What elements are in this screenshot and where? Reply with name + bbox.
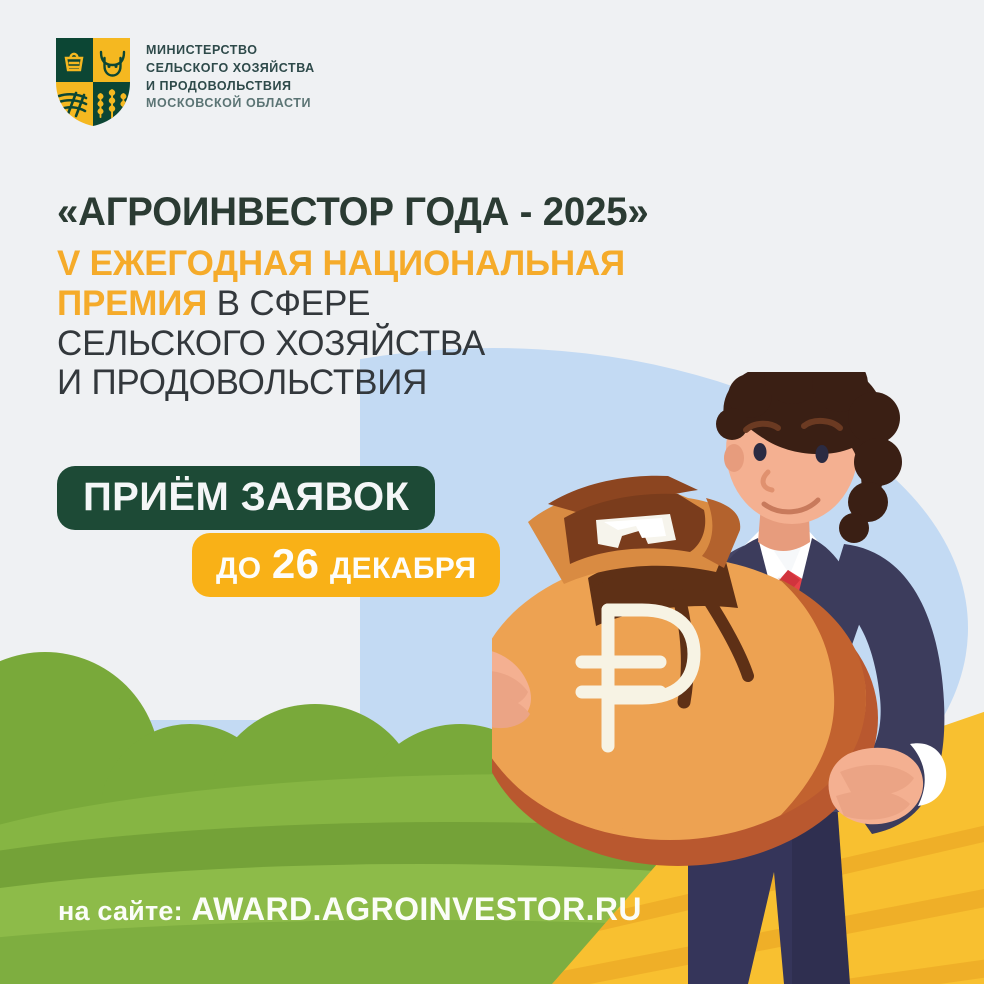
logo-line-4: МОСКОВСКОЙ ОБЛАСТИ [146, 95, 315, 113]
deadline-prefix: ДО [216, 552, 262, 585]
ministry-logo-text: МИНИСТЕРСТВО СЕЛЬСКОГО ХОЗЯЙСТВА И ПРОДО… [146, 36, 315, 113]
subtitle-line-2-rest: В СФЕРЕ [207, 284, 370, 323]
site-url[interactable]: AWARD.AGROINVESTOR.RU [191, 891, 642, 927]
deadline-month: ДЕКАБРЯ [330, 552, 477, 585]
logo-line-2: СЕЛЬСКОГО ХОЗЯЙСТВА [146, 60, 315, 78]
poster-canvas: МИНИСТЕРСТВО СЕЛЬСКОГО ХОЗЯЙСТВА И ПРОДО… [0, 0, 984, 984]
deadline-day: 26 [272, 540, 320, 587]
award-title: «АГРОИНВЕСТОР ГОДА - 2025» [57, 192, 815, 233]
logo-line-3: И ПРОДОВОЛЬСТВИЯ [146, 78, 315, 96]
ministry-shield-emblem-icon [54, 36, 132, 128]
subtitle-line-3: СЕЛЬСКОГО ХОЗЯЙСТВА [57, 324, 847, 364]
deadline-badge: ДО 26 ДЕКАБРЯ [192, 533, 500, 597]
site-line[interactable]: на сайте: AWARD.AGROINVESTOR.RU [58, 893, 642, 926]
logo-line-1: МИНИСТЕРСТВО [146, 42, 315, 60]
subtitle-line-1: V ЕЖЕГОДНАЯ НАЦИОНАЛЬНАЯ [57, 244, 847, 284]
subtitle-line-2-accent: ПРЕМИЯ [57, 284, 207, 323]
ministry-logo[interactable]: МИНИСТЕРСТВО СЕЛЬСКОГО ХОЗЯЙСТВА И ПРОДО… [54, 36, 315, 128]
applications-open-badge: ПРИЁМ ЗАЯВОК [57, 466, 435, 530]
site-label: на сайте: [58, 896, 183, 926]
